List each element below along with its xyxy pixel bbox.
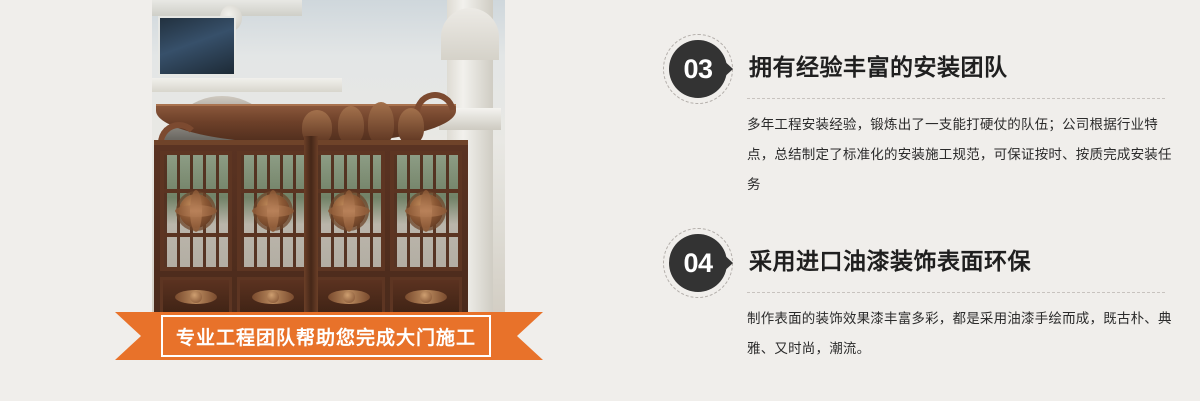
gate-photo (152, 0, 505, 313)
gate-panel (314, 151, 386, 271)
gate-lower-ornament (252, 290, 294, 304)
gate-rosette (332, 194, 366, 228)
gate-panel (160, 151, 232, 271)
feature-divider (747, 292, 1165, 293)
ribbon-text: 专业工程团队帮助您完成大门施工 (176, 323, 476, 350)
badge-circle: 03 (669, 40, 727, 98)
feature-body-text: 制作表面的装饰效果漆丰富多彩，都是采用油漆手绘而成，既古朴、典雅、又时尚，潮流。 (747, 304, 1179, 364)
feature-body-text: 多年工程安装经验，锻炼出了一支能打硬仗的队伍；公司根据行业特点，总结制定了标准化… (747, 110, 1179, 200)
feature-header: 03 拥有经验丰富的安装团队 (655, 34, 1185, 104)
gate-rail (394, 233, 458, 237)
feature-list: 03 拥有经验丰富的安装团队 多年工程安装经验，锻炼出了一支能打硬仗的队伍；公司… (655, 0, 1185, 401)
gate-rosette (179, 194, 213, 228)
gate-rail (241, 233, 305, 237)
number-badge-03: 03 (663, 34, 733, 104)
badge-number: 04 (683, 250, 712, 277)
ribbon-inner-border: 专业工程团队帮助您完成大门施工 (161, 315, 491, 357)
gate-panel (237, 151, 309, 271)
gate-lower-panel (314, 277, 386, 313)
gate-lower-ornament (328, 290, 370, 304)
promo-banner-page: 专业工程团队帮助您完成大门施工 03 拥有经验丰富的安装团队 多年工程安装经验，… (0, 0, 1200, 401)
ribbon-banner: 专业工程团队帮助您完成大门施工 (115, 312, 543, 360)
feature-item-04: 04 采用进口油漆装饰表面环保 制作表面的装饰效果漆丰富多彩，都是采用油漆手绘而… (655, 228, 1185, 298)
badge-circle: 04 (669, 234, 727, 292)
gate-panel (390, 151, 462, 271)
gate-rail (318, 233, 382, 237)
gate-center-post (304, 136, 318, 313)
gate-rosette (256, 194, 290, 228)
bronze-gate (152, 86, 470, 313)
feature-title: 拥有经验丰富的安装团队 (749, 48, 1008, 82)
gate-lower-ornament (405, 290, 447, 304)
feature-title: 采用进口油漆装饰表面环保 (749, 242, 1031, 276)
number-badge-04: 04 (663, 228, 733, 298)
feature-item-03: 03 拥有经验丰富的安装团队 多年工程安装经验，锻炼出了一支能打硬仗的队伍；公司… (655, 34, 1185, 104)
crest-plume-d (398, 108, 424, 144)
badge-pointer-icon (721, 58, 733, 80)
crest-plume-b (338, 106, 364, 144)
villa-window (158, 16, 236, 76)
feature-header: 04 采用进口油漆装饰表面环保 (655, 228, 1185, 298)
gate-lower-ornament (175, 290, 217, 304)
crest-plume-c (368, 102, 394, 144)
badge-pointer-icon (721, 252, 733, 274)
gate-rosette (409, 194, 443, 228)
gate-lower-panel (160, 277, 232, 313)
gate-rail (164, 233, 228, 237)
gate-lower-panel (237, 277, 309, 313)
badge-number: 03 (683, 56, 712, 83)
feature-divider (747, 98, 1165, 99)
villa-pilaster-top (441, 8, 499, 60)
gate-lower-panel (390, 277, 462, 313)
